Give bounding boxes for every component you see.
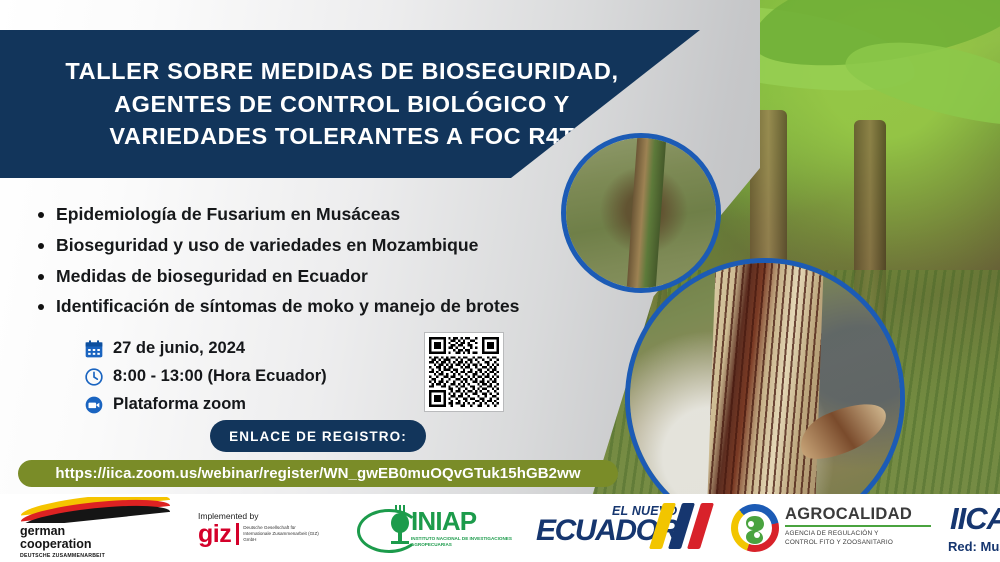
topic-label: Bioseguridad y uso de variedades en Moza… xyxy=(56,234,478,258)
topic-label: Epidemiología de Fusarium en Musáceas xyxy=(56,203,400,227)
ecuador-logo: EL NUEVO ECUADOR xyxy=(528,497,723,559)
list-item: Identificación de síntomas de moko y man… xyxy=(30,295,630,319)
bullet-icon xyxy=(38,304,44,310)
giz-implemented-by: Implemented by xyxy=(198,511,258,521)
event-date: 27 de junio, 2024 xyxy=(113,339,245,358)
qr-code[interactable] xyxy=(424,332,504,412)
page-title: TALLER SOBRE MEDIDAS DE BIOSEGURIDAD, AG… xyxy=(52,55,648,152)
poster: TALLER SOBRE MEDIDAS DE BIOSEGURIDAD, AG… xyxy=(0,0,1000,562)
german-cooperation-logo: german cooperation DEUTSCHE ZUSAMMENARBE… xyxy=(0,497,190,559)
iniap-wordmark: INIAP xyxy=(411,510,517,534)
iica-wordmark: IICA xyxy=(950,503,1000,534)
event-time-row: 8:00 - 13:00 (Hora Ecuador) xyxy=(84,364,327,389)
iniap-logo: INIAP INSTITUTO NACIONAL DE INVESTIGACIO… xyxy=(353,497,528,559)
agrocalidad-leaf-icon xyxy=(738,512,772,546)
event-platform: Plataforma zoom xyxy=(113,395,246,414)
agrocalidad-subtitle-2: CONTROL FITO Y ZOOSANITARIO xyxy=(785,538,931,547)
calendar-icon xyxy=(84,339,104,359)
event-date-row: 27 de junio, 2024 xyxy=(84,336,327,361)
registration-button[interactable]: ENLACE DE REGISTRO: xyxy=(210,420,426,452)
list-item: Bioseguridad y uso de variedades en Moza… xyxy=(30,234,630,258)
agrocalidad-subtitle-1: AGENCIA DE REGULACIÓN Y xyxy=(785,529,931,538)
topic-label: Medidas de bioseguridad en Ecuador xyxy=(56,265,368,289)
agrocalidad-divider xyxy=(785,525,931,527)
iniap-seal-icon xyxy=(387,505,413,545)
event-platform-row: Plataforma zoom xyxy=(84,392,327,417)
registration-url-pill[interactable]: https://iica.zoom.us/webinar/register/WN… xyxy=(18,460,618,487)
bullet-icon xyxy=(38,274,44,280)
iica-network-label: Red: Musaceas - Foc R4T xyxy=(948,539,1000,554)
iica-logo: IICA Red: Musaceas - Foc R4T xyxy=(938,497,1000,559)
topic-list: Epidemiología de Fusarium en Musáceas Bi… xyxy=(30,203,630,326)
giz-wordmark: giz xyxy=(198,523,231,546)
list-item: Epidemiología de Fusarium en Musáceas xyxy=(30,203,630,227)
clock-icon xyxy=(84,367,104,387)
ecuador-flag-bars-icon xyxy=(656,503,718,549)
iniap-subtitle: INSTITUTO NACIONAL DE INVESTIGACIONES AG… xyxy=(411,536,517,548)
agrocalidad-logo: AGROCALIDAD AGENCIA DE REGULACIÓN Y CONT… xyxy=(723,497,938,559)
qr-code-image xyxy=(429,337,499,407)
german-flag-wave-icon xyxy=(20,497,170,523)
giz-logo: Implemented by giz Deutsche Gesellschaft… xyxy=(190,497,353,559)
registration-url: https://iica.zoom.us/webinar/register/WN… xyxy=(55,465,580,482)
agrocalidad-wordmark: AGROCALIDAD xyxy=(785,506,931,523)
german-logo-line2: cooperation xyxy=(20,538,170,551)
circle-large-image xyxy=(630,263,900,533)
zoom-camera-icon xyxy=(84,395,104,415)
logo-footer: german cooperation DEUTSCHE ZUSAMMENARBE… xyxy=(0,494,1000,562)
topic-label: Identificación de síntomas de moko y man… xyxy=(56,295,519,319)
registration-button-label: ENLACE DE REGISTRO: xyxy=(229,429,407,444)
giz-subtitle: Deutsche Gesellschaft für Internationale… xyxy=(243,525,321,544)
event-time: 8:00 - 13:00 (Hora Ecuador) xyxy=(113,367,327,386)
german-logo-line3: DEUTSCHE ZUSAMMENARBEIT xyxy=(20,553,170,559)
bullet-icon xyxy=(38,212,44,218)
event-details: 27 de junio, 2024 8:00 - 13:00 (Hora Ecu… xyxy=(84,336,327,420)
list-item: Medidas de bioseguridad en Ecuador xyxy=(30,265,630,289)
bullet-icon xyxy=(38,243,44,249)
giz-bar-icon xyxy=(236,523,239,545)
